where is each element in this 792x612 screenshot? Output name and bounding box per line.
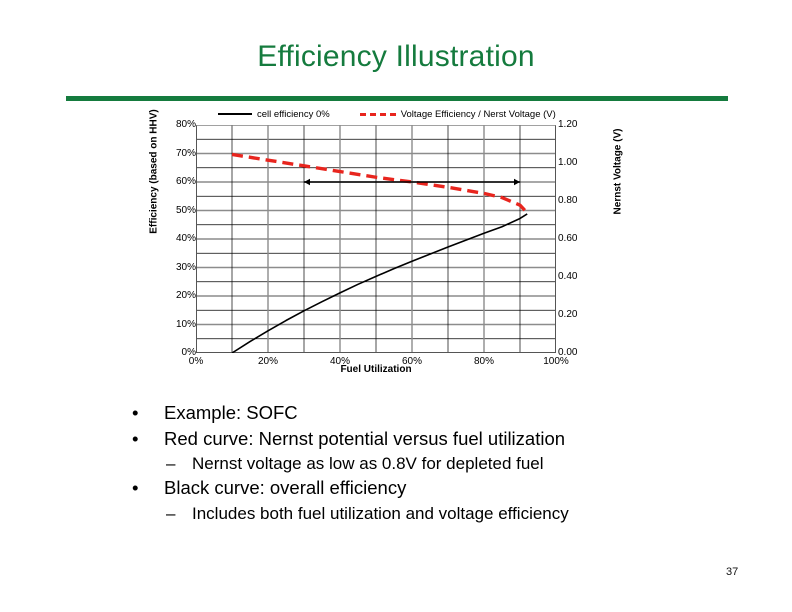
- legend-swatch-red-dashed-icon: [360, 113, 396, 116]
- y-axis-left-tick-label: 30%: [158, 262, 196, 274]
- x-axis-tick-label: 100%: [533, 356, 579, 367]
- y-axis-right-tick-label: 0.80: [558, 195, 596, 207]
- bullet-text: Nernst voltage as low as 0.8V for deplet…: [192, 455, 732, 472]
- bullet-marker-icon: •: [132, 479, 164, 498]
- series-line-0: [232, 214, 527, 353]
- x-axis-ticks: 0%20%40%60%80%100%: [196, 356, 556, 370]
- bullet-text: Example: SOFC: [164, 404, 732, 423]
- bullet-item: •Example: SOFC: [132, 404, 732, 423]
- bullet-marker-icon: –: [166, 455, 192, 472]
- y-axis-left-tick-label: 10%: [158, 319, 196, 331]
- legend-item-cell-efficiency: cell efficiency 0%: [218, 109, 330, 120]
- bullet-item: •Black curve: overall efficiency: [132, 479, 732, 498]
- bullet-list: •Example: SOFC•Red curve: Nernst potenti…: [132, 404, 732, 529]
- plot-area: [196, 125, 556, 353]
- y-axis-right-tick-label: 0.60: [558, 233, 596, 245]
- y-axis-left-ticks: 0%10%20%30%40%50%60%70%80%: [158, 125, 196, 353]
- x-axis-tick-label: 20%: [245, 356, 291, 367]
- y-axis-left-tick-label: 70%: [158, 148, 196, 160]
- x-axis-tick-label: 60%: [389, 356, 435, 367]
- y-axis-right-tick-label: 1.00: [558, 157, 596, 169]
- y-axis-right-tick-label: 0.40: [558, 271, 596, 283]
- bullet-item: •Red curve: Nernst potential versus fuel…: [132, 430, 732, 449]
- y-axis-left-tick-label: 80%: [158, 119, 196, 131]
- legend-swatch-black-line-icon: [218, 113, 252, 115]
- bullet-text: Red curve: Nernst potential versus fuel …: [164, 430, 732, 449]
- title-divider: [66, 96, 728, 101]
- bullet-item: –Nernst voltage as low as 0.8V for deple…: [132, 455, 732, 472]
- page-title: Efficiency Illustration: [0, 40, 792, 74]
- bullet-marker-icon: –: [166, 505, 192, 522]
- y-axis-left-tick-label: 20%: [158, 290, 196, 302]
- y-axis-left-tick-label: 50%: [158, 205, 196, 217]
- bullet-text: Includes both fuel utilization and volta…: [192, 505, 732, 522]
- y-axis-left-tick-label: 60%: [158, 176, 196, 188]
- y-axis-right-ticks: 0.000.200.400.600.801.001.20: [558, 125, 596, 353]
- y-axis-left-tick-label: 40%: [158, 233, 196, 245]
- y-axis-right-tick-label: 1.20: [558, 119, 596, 131]
- x-axis-tick-label: 80%: [461, 356, 507, 367]
- annotation-arrowhead-right: [514, 179, 520, 185]
- bullet-item: –Includes both fuel utilization and volt…: [132, 505, 732, 522]
- legend-label-voltage-efficiency: Voltage Efficiency / Nerst Voltage (V): [401, 109, 556, 120]
- bullet-marker-icon: •: [132, 430, 164, 449]
- series-line-1: [232, 154, 527, 212]
- bullet-text: Black curve: overall efficiency: [164, 479, 732, 498]
- efficiency-chart: cell efficiency 0% Voltage Efficiency / …: [140, 106, 652, 398]
- legend-item-voltage-efficiency: Voltage Efficiency / Nerst Voltage (V): [360, 109, 556, 120]
- y-axis-right-tick-label: 0.20: [558, 309, 596, 321]
- annotation-arrowhead-left: [304, 179, 310, 185]
- x-axis-tick-label: 0%: [173, 356, 219, 367]
- legend-label-cell-efficiency: cell efficiency 0%: [257, 109, 330, 120]
- y-axis-right-title: Nernst Voltage (V): [613, 92, 624, 252]
- bullet-marker-icon: •: [132, 404, 164, 423]
- page-number: 37: [726, 566, 738, 578]
- x-axis-tick-label: 40%: [317, 356, 363, 367]
